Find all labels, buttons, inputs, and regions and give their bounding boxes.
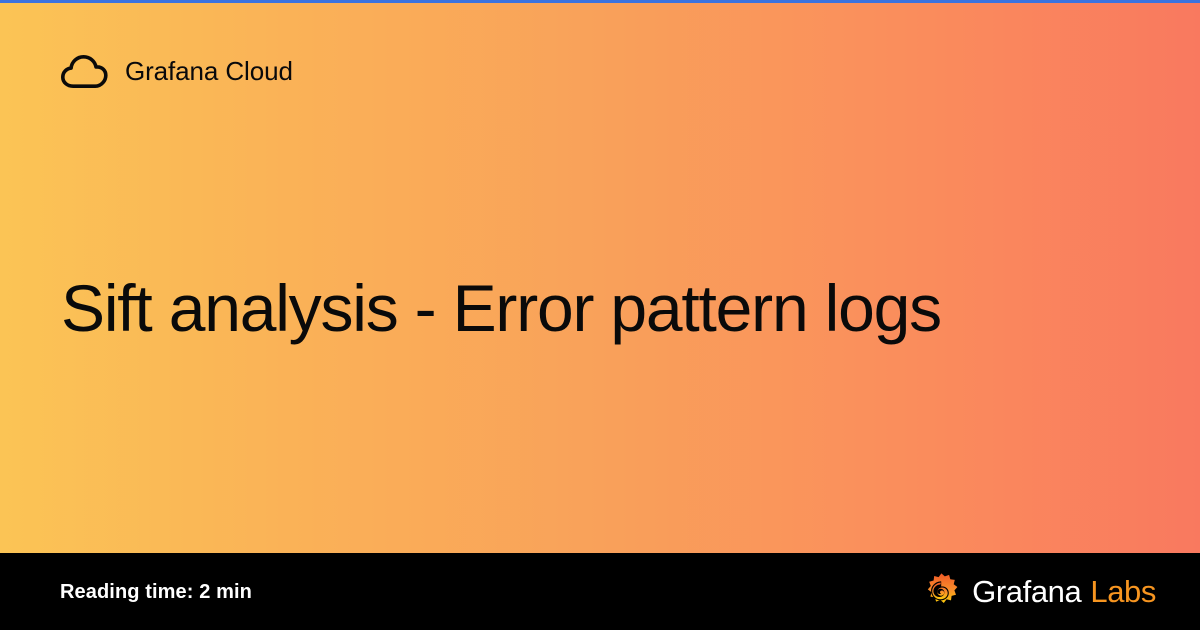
brand-label: Grafana Cloud	[125, 58, 293, 84]
social-share-card: Grafana Cloud Sift analysis - Error patt…	[0, 0, 1200, 630]
reading-time-label: Reading time: 2 min	[60, 582, 252, 602]
cloud-icon	[60, 52, 108, 90]
top-accent-bar	[0, 0, 1200, 3]
wordmark-grafana: Grafana	[972, 576, 1081, 607]
grafana-labs-logo: Grafana Labs	[921, 572, 1156, 612]
grafana-sunburst-icon	[921, 572, 961, 612]
grafana-labs-wordmark: Grafana Labs	[972, 576, 1156, 607]
wordmark-labs: Labs	[1090, 576, 1156, 607]
card-footer: Reading time: 2 min	[0, 553, 1200, 630]
brand-lockup: Grafana Cloud	[60, 52, 293, 90]
page-title: Sift analysis - Error pattern logs	[61, 272, 1141, 346]
hero-banner: Grafana Cloud Sift analysis - Error patt…	[0, 0, 1200, 553]
